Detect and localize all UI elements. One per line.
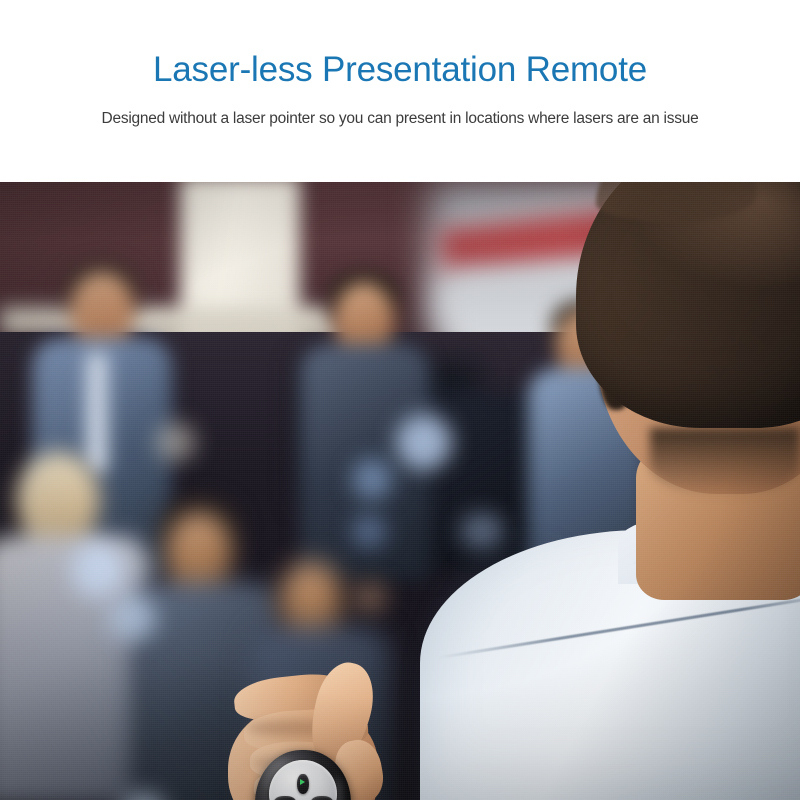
hero-photo [0, 182, 800, 800]
bokeh-highlight [156, 422, 196, 462]
page-title: Laser-less Presentation Remote [0, 48, 800, 92]
page-subtitle: Designed without a laser pointer so you … [0, 108, 800, 130]
play-triangle-icon [300, 779, 305, 785]
presentation-remote[interactable] [255, 750, 363, 800]
bokeh-highlight [352, 580, 388, 614]
page-header: Laser-less Presentation Remote Designed … [0, 0, 800, 182]
remote-button-left[interactable] [274, 796, 296, 800]
bokeh-highlight [352, 458, 392, 500]
presenter [400, 182, 800, 800]
bokeh-highlight [352, 514, 386, 548]
presenter-nape [650, 428, 800, 498]
audience-head [280, 562, 342, 636]
audience-head [166, 512, 232, 592]
bokeh-highlight [108, 594, 156, 642]
audience-head [16, 452, 100, 548]
bokeh-highlight [70, 542, 124, 598]
product-feature-page: Laser-less Presentation Remote Designed … [0, 0, 800, 800]
remote-button-right[interactable] [311, 796, 333, 800]
